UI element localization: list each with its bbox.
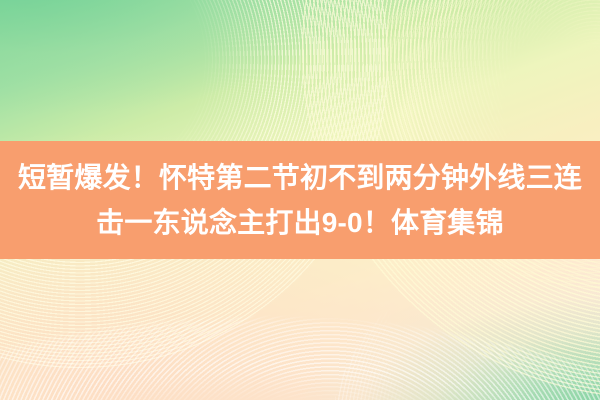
headline-band: 短暂爆发！怀特第二节初不到两分钟外线三连击一东说念主打出9-0！体育集锦	[0, 141, 600, 259]
poster-canvas: 短暂爆发！怀特第二节初不到两分钟外线三连击一东说念主打出9-0！体育集锦	[0, 0, 600, 400]
headline-title: 短暂爆发！怀特第二节初不到两分钟外线三连击一东说念主打出9-0！体育集锦	[6, 155, 594, 245]
